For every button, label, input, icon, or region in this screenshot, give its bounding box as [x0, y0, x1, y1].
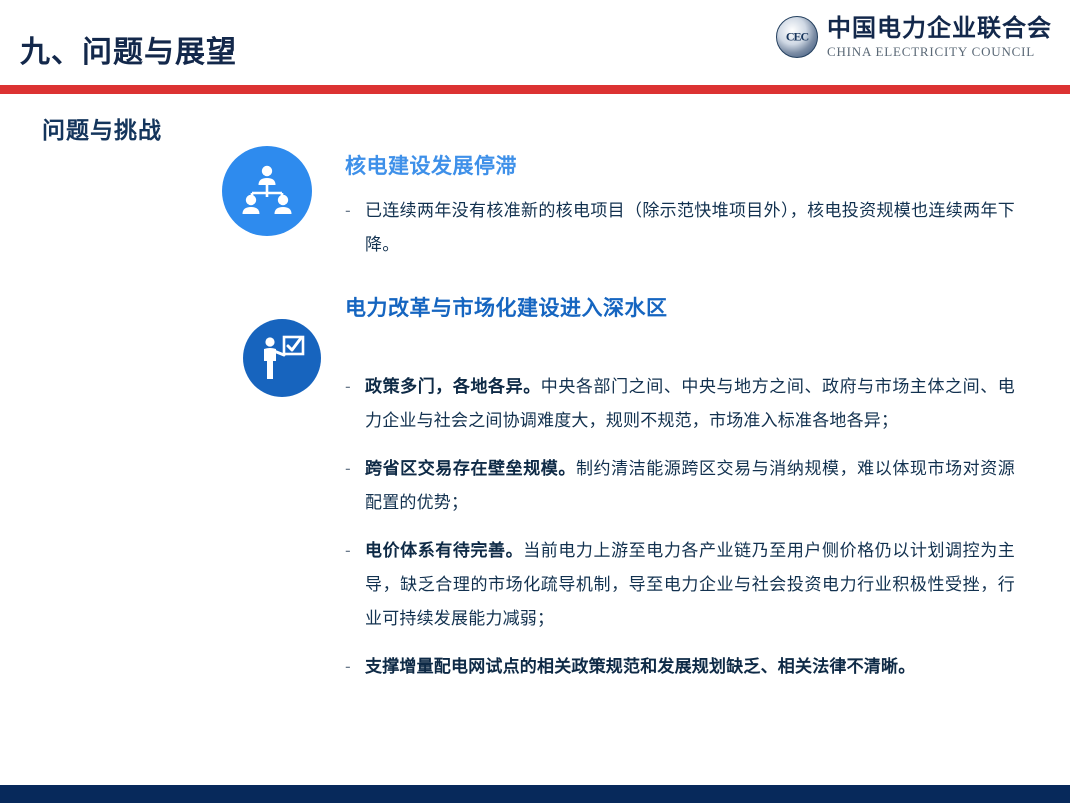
- bullet-body: 支撑增量配电网试点的相关政策规范和发展规划缺乏、相关法律不清晰。: [365, 657, 915, 676]
- bullet-text: 政策多门，各地各异。中央各部门之间、中央与地方之间、政府与市场主体之间、电力企业…: [365, 370, 1015, 438]
- section-2-bullet-1: - 政策多门，各地各异。中央各部门之间、中央与地方之间、政府与市场主体之间、电力…: [345, 370, 1015, 438]
- section-1-heading: 核电建设发展停滞: [345, 150, 1015, 180]
- section-2-heading: 电力改革与市场化建设进入深水区: [345, 292, 1015, 322]
- section-1: 核电建设发展停滞 - 已连续两年没有核准新的核电项目（除示范快堆项目外），核电投…: [345, 150, 1015, 262]
- cec-seal-logo-icon: [776, 16, 818, 58]
- bullet-dash: -: [345, 194, 365, 228]
- section-2: 电力改革与市场化建设进入深水区 - 政策多门，各地各异。中央各部门之间、中央与地…: [345, 292, 1015, 684]
- logo-text-group: 中国电力企业联合会 CHINA ELECTRICITY COUNCIL: [827, 17, 1052, 58]
- header-red-divider: [0, 85, 1070, 94]
- bullet-text: 电价体系有待完善。当前电力上游至电力各产业链乃至用户侧价格仍以计划调控为主导，缺…: [365, 534, 1015, 636]
- section-2-bullet-3: - 电价体系有待完善。当前电力上游至电力各产业链乃至用户侧价格仍以计划调控为主导…: [345, 534, 1015, 636]
- bullet-dash: -: [345, 534, 365, 568]
- logo-chinese-name: 中国电力企业联合会: [827, 17, 1052, 41]
- section-2-bullet-2: - 跨省区交易存在壁垒规模。制约清洁能源跨区交易与消纳规模，难以体现市场对资源配…: [345, 452, 1015, 520]
- bullet-text: 跨省区交易存在壁垒规模。制约清洁能源跨区交易与消纳规模，难以体现市场对资源配置的…: [365, 452, 1015, 520]
- slide-header: 九、问题与展望 中国电力企业联合会 CHINA ELECTRICITY COUN…: [0, 0, 1070, 85]
- bullet-lead: 跨省区交易存在壁垒规模。: [365, 459, 576, 478]
- bullet-lead: 电价体系有待完善。: [365, 541, 523, 560]
- slide-root: 九、问题与展望 中国电力企业联合会 CHINA ELECTRICITY COUN…: [0, 0, 1070, 803]
- bullet-dash: -: [345, 452, 365, 486]
- bullet-dash: -: [345, 650, 365, 684]
- bullet-lead: 政策多门，各地各异。: [365, 377, 541, 396]
- organization-logo: 中国电力企业联合会 CHINA ELECTRICITY COUNCIL: [776, 16, 1052, 58]
- section-2-bullet-4: - 支撑增量配电网试点的相关政策规范和发展规划缺乏、相关法律不清晰。: [345, 650, 1015, 684]
- people-network-icon: [222, 146, 312, 236]
- bullet-body: 已连续两年没有核准新的核电项目（除示范快堆项目外），核电投资规模也连续两年下降。: [365, 201, 1015, 254]
- page-title: 九、问题与展望: [20, 27, 237, 71]
- bullet-text: 支撑增量配电网试点的相关政策规范和发展规划缺乏、相关法律不清晰。: [365, 650, 1015, 684]
- bullet-dash: -: [345, 370, 365, 404]
- logo-english-name: CHINA ELECTRICITY COUNCIL: [827, 45, 1052, 58]
- section-subtitle: 问题与挑战: [42, 111, 162, 145]
- presenter-checkbox-icon: [243, 319, 321, 397]
- bullet-text: 已连续两年没有核准新的核电项目（除示范快堆项目外），核电投资规模也连续两年下降。: [365, 194, 1015, 262]
- section-1-bullet-1: - 已连续两年没有核准新的核电项目（除示范快堆项目外），核电投资规模也连续两年下…: [345, 194, 1015, 262]
- footer-navy-bar: [0, 785, 1070, 803]
